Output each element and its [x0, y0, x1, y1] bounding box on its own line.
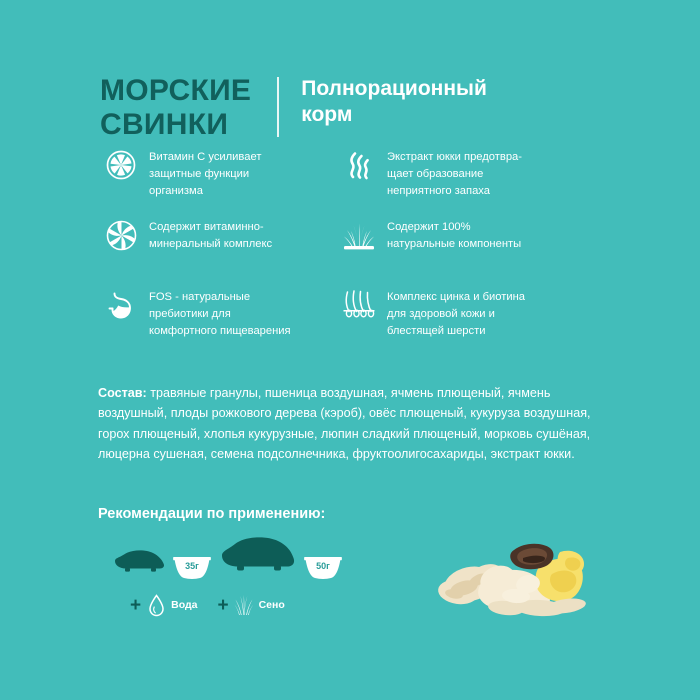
- feature-label: Содержит 100% натуральные компоненты: [387, 218, 521, 253]
- page-title: МОРСКИЕ СВИНКИ: [100, 74, 251, 141]
- feature-label: FOS - натуральные пребиотики для комфорт…: [149, 288, 291, 340]
- recommendations-title: Рекомендации по применению:: [98, 506, 325, 522]
- feeding-addons-row: + Вода +: [130, 593, 352, 617]
- feature-item: Витамин С усиливает защитные функции орг…: [104, 148, 342, 218]
- features-grid: Витамин С усиливает защитные функции орг…: [104, 148, 590, 358]
- addon-label: Сено: [259, 599, 285, 611]
- header: МОРСКИЕ СВИНКИ Полнорационный корм: [100, 74, 487, 141]
- package-label-panel: МОРСКИЕ СВИНКИ Полнорационный корм: [0, 0, 700, 700]
- addon-water: + Вода: [130, 593, 197, 617]
- food-mix-photo: [428, 522, 608, 626]
- water-drop-icon: [146, 593, 166, 617]
- guinea-pig-small-icon: [112, 545, 170, 584]
- feature-item: Содержит 100% натуральные компоненты: [342, 218, 590, 288]
- feature-label: Витамин С усиливает защитные функции орг…: [149, 148, 261, 200]
- portion-large: 50г: [219, 533, 342, 584]
- guinea-pig-large-icon: [219, 533, 301, 584]
- portion-small: 35г: [112, 545, 211, 584]
- stomach-icon: [104, 288, 138, 322]
- odor-waves-icon: [342, 148, 376, 182]
- composition-text: травяные гранулы, пшеница воздушная, ячм…: [98, 386, 591, 461]
- feature-label: Комплекс цинка и биотина для здоровой ко…: [387, 288, 525, 340]
- portion-amount: 35г: [173, 561, 211, 571]
- feeding-portions-row: 35г: [112, 538, 352, 584]
- hair-follicles-icon: [342, 288, 376, 322]
- product-type-label: Полнорационный корм: [301, 76, 487, 127]
- header-divider-icon: [277, 77, 279, 137]
- feature-label: Экстракт юкки предотвра- щает образовани…: [387, 148, 522, 200]
- feeding-guide: 35г: [112, 538, 352, 617]
- bowl-icon: 35г: [173, 556, 211, 581]
- feature-item: Комплекс цинка и биотина для здоровой ко…: [342, 288, 590, 358]
- addon-label: Вода: [171, 599, 197, 611]
- feature-item: FOS - натуральные пребиотики для комфорт…: [104, 288, 342, 358]
- bowl-icon: 50г: [304, 556, 342, 581]
- hay-icon: [234, 593, 254, 617]
- addon-hay: + Сено: [217, 593, 284, 617]
- feature-item: Содержит витаминно- минеральный комплекс: [104, 218, 342, 288]
- aperture-icon: [104, 218, 138, 252]
- citrus-slice-icon: [104, 148, 138, 182]
- feature-label: Содержит витаминно- минеральный комплекс: [149, 218, 272, 253]
- grass-icon: [342, 218, 376, 252]
- feature-item: Экстракт юкки предотвра- щает образовани…: [342, 148, 590, 218]
- plus-icon: +: [217, 596, 228, 615]
- composition-label: Состав:: [98, 386, 147, 400]
- composition-block: Состав: травяные гранулы, пшеница воздуш…: [98, 383, 604, 465]
- plus-icon: +: [130, 596, 141, 615]
- portion-amount: 50г: [304, 561, 342, 571]
